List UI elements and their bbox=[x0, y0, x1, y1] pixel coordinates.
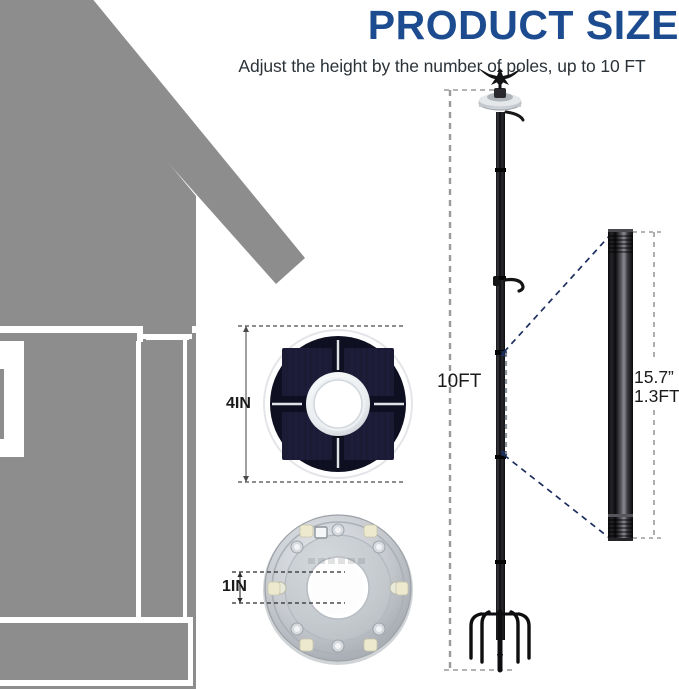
page-subtitle: Adjust the height by the number of poles… bbox=[205, 56, 679, 77]
pole-segment-inches-label: 15.7” bbox=[634, 368, 674, 388]
light-disc-thickness-label: 1IN bbox=[222, 578, 247, 596]
segment-body bbox=[608, 229, 633, 541]
page-title: PRODUCT SIZE bbox=[300, 4, 679, 47]
house-silhouette bbox=[0, 0, 340, 689]
solar-panel-diameter-label: 4IN bbox=[226, 395, 251, 413]
column-capital bbox=[143, 326, 192, 334]
pole-shaft bbox=[496, 112, 505, 640]
total-height-label: 10FT bbox=[437, 371, 481, 393]
five-prong-ground-stake bbox=[471, 612, 529, 670]
segment-bottom-threads bbox=[608, 520, 633, 536]
pole-light-head bbox=[479, 88, 523, 120]
window-frame bbox=[0, 369, 4, 439]
column-gap bbox=[136, 341, 141, 617]
segment-top-threads bbox=[608, 236, 633, 252]
magnifier-leader-lines bbox=[500, 233, 612, 540]
base-trim-gap bbox=[0, 617, 193, 623]
product-size-infographic: PRODUCT SIZE Adjust the height by the nu… bbox=[0, 0, 679, 689]
column-shaft bbox=[147, 340, 183, 617]
pole-hook-bracket bbox=[493, 276, 523, 291]
foundation-band bbox=[0, 623, 193, 680]
wall-lower bbox=[0, 457, 24, 640]
wall-panel bbox=[24, 341, 136, 640]
assembled-garden-pole bbox=[471, 68, 529, 670]
pole-segment-feet-label: 1.3FT bbox=[634, 387, 679, 407]
